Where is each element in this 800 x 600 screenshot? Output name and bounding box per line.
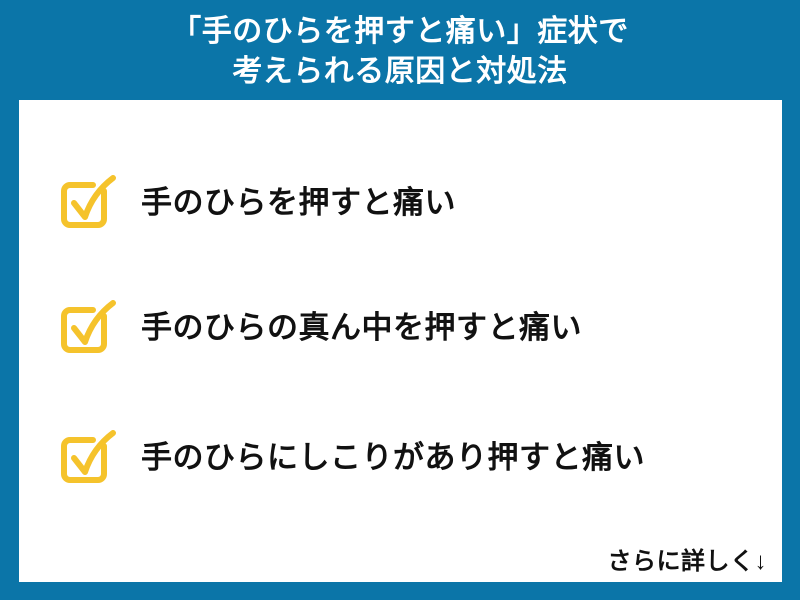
content-card: 手のひらを押すと痛い 手のひらの真ん中を押すと痛い	[19, 100, 782, 582]
list-item: 手のひらを押すと痛い	[57, 167, 456, 239]
page-title: 「手のひらを押すと痛い」症状で 考えられる原因と対処法	[0, 12, 800, 92]
list-item-label: 手のひらを押すと痛い	[141, 185, 456, 221]
checkbox-checked-icon	[57, 427, 119, 489]
list-item-label: 手のひらの真ん中を押すと痛い	[141, 310, 582, 346]
title-line-1: 「手のひらを押すと痛い」症状で	[0, 12, 800, 52]
title-line-2: 考えられる原因と対処法	[0, 52, 800, 92]
list-item-label: 手のひらにしこりがあり押すと痛い	[141, 440, 645, 476]
list-item: 手のひらにしこりがあり押すと痛い	[57, 422, 645, 494]
checklist: 手のひらを押すと痛い 手のひらの真ん中を押すと痛い	[19, 100, 782, 582]
more-details-link[interactable]: さらに詳しく↓	[608, 541, 768, 576]
slide-canvas: 「手のひらを押すと痛い」症状で 考えられる原因と対処法 手のひらを押すと痛い	[0, 0, 800, 600]
checkbox-checked-icon	[57, 172, 119, 234]
list-item: 手のひらの真ん中を押すと痛い	[57, 292, 582, 364]
checkbox-checked-icon	[57, 297, 119, 359]
